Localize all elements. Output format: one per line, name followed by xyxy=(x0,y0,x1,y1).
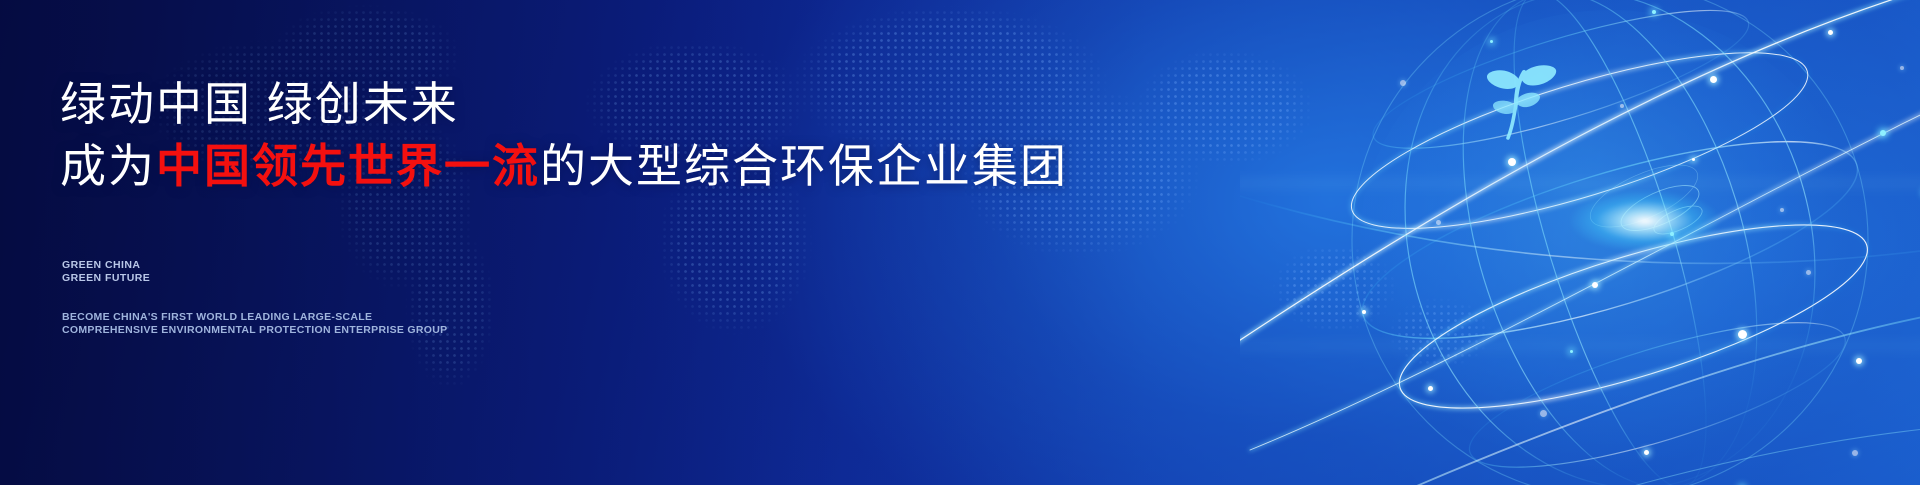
globe-wireframe-svg xyxy=(1240,0,1920,485)
description-line-1: BECOME CHINA'S FIRST WORLD LEADING LARGE… xyxy=(62,311,447,324)
headline-line-2-highlight: 中国领先世界一流 xyxy=(156,140,540,192)
globe-halo xyxy=(1360,10,1860,470)
slogan-line-2: GREEN FUTURE xyxy=(62,272,150,285)
headline-line-1: 绿动中国 绿创未来 xyxy=(60,78,459,130)
headline-line-2: 成为中国领先世界一流的大型综合环保企业集团 xyxy=(60,138,1068,194)
globe-core-glow xyxy=(1570,190,1720,252)
hero-banner: 绿动中国 绿创未来 成为中国领先世界一流的大型综合环保企业集团 GREEN CH… xyxy=(0,0,1920,485)
headline: 绿动中国 绿创未来 成为中国领先世界一流的大型综合环保企业集团 xyxy=(60,76,1068,194)
globe-graphic xyxy=(1240,0,1920,485)
slogan-english: GREEN CHINA GREEN FUTURE xyxy=(62,259,150,284)
slogan-line-1: GREEN CHINA xyxy=(62,259,150,272)
particle-field xyxy=(1240,0,1920,485)
headline-line-2-suffix: 的大型综合环保企业集团 xyxy=(540,140,1068,192)
description-english: BECOME CHINA'S FIRST WORLD LEADING LARGE… xyxy=(62,311,447,336)
description-line-2: COMPREHENSIVE ENVIRONMENTAL PROTECTION E… xyxy=(62,324,447,337)
headline-line-2-prefix: 成为 xyxy=(60,140,156,192)
sprout-leaf-icon xyxy=(1472,58,1558,150)
banner-copy: 绿动中国 绿创未来 成为中国领先世界一流的大型综合环保企业集团 GREEN CH… xyxy=(60,0,1060,485)
